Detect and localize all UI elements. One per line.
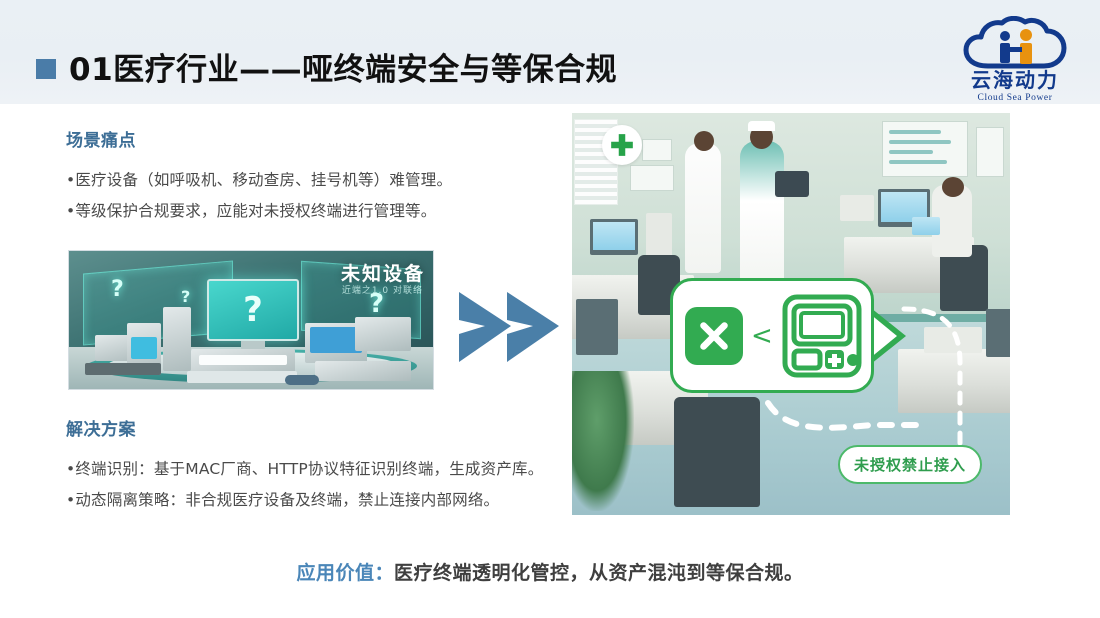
logo-en-name: Cloud Sea Power: [978, 93, 1053, 103]
title-bullet-square-icon: [36, 59, 56, 79]
slide-root: 01医疗行业——哑终端安全与等保合规 云海动力 Cloud Sea Power …: [0, 0, 1100, 618]
page-title: 01医疗行业——哑终端安全与等保合规: [69, 44, 617, 89]
list-item: •终端识别：基于MAC厂商、HTTP协议特征识别终端，生成资产库。: [66, 454, 566, 485]
question-mark-icon: ?: [181, 287, 190, 306]
unknown-devices-sublabel: 近端之1.0 对联络: [342, 283, 423, 296]
x-mark-icon: [695, 317, 733, 355]
pain-points-list: •医疗设备（如呼吸机、移动查房、挂号机等）难管理。 •等级保护合规要求，应能对未…: [66, 165, 566, 227]
question-mark-icon: ?: [111, 277, 124, 302]
medical-device-icon: [781, 294, 863, 378]
slide-title-row: 01医疗行业——哑终端安全与等保合规: [36, 44, 617, 89]
monitor-screen: ?: [207, 279, 299, 341]
solution-block: 解决方案 •终端识别：基于MAC厂商、HTTP协议特征识别终端，生成资产库。 •…: [66, 415, 566, 516]
scanner-device: [355, 317, 411, 351]
list-item: •等级保护合规要求，应能对未授权终端进行管理等。: [66, 196, 566, 227]
logo-cn-name: 云海动力: [971, 70, 1059, 91]
pain-points-heading: 场景痛点: [66, 126, 566, 151]
mouse-device: [285, 375, 319, 385]
solution-list: •终端识别：基于MAC厂商、HTTP协议特征识别终端，生成资产库。 •动态隔离策…: [66, 454, 566, 516]
cloud-with-people-icon: [960, 16, 1070, 72]
monitor-stand: [241, 341, 265, 349]
hospital-office-photo: < 未授权禁止接入: [572, 113, 1010, 515]
unauthorized-device-banner: <: [670, 278, 902, 393]
double-chevron-right-icon: [455, 288, 565, 366]
printer-paper-slot: [199, 355, 287, 365]
unknown-devices-label: 未知设备: [341, 259, 425, 286]
footer-label: 应用价值：: [296, 562, 394, 584]
pain-points-block: 场景痛点 •医疗设备（如呼吸机、移动查房、挂号机等）难管理。 •等级保护合规要求…: [66, 126, 566, 227]
ip-phone-screen: [131, 337, 157, 359]
pc-tower-device: [163, 307, 191, 371]
brand-logo: 云海动力 Cloud Sea Power: [952, 16, 1078, 108]
list-item: •动态隔离策略：非合规医疗设备及终端，禁止连接内部网络。: [66, 485, 566, 516]
less-than-icon: <: [751, 321, 773, 351]
status-badge: 未授权禁止接入: [838, 445, 982, 484]
copier-device: [315, 361, 411, 381]
footer-value-statement: 应用价值：医疗终端透明化管控，从资产混沌到等保合规。: [0, 558, 1100, 585]
unknown-devices-image: ? ? ? ? 未知设备 近端之1.0 对联络: [68, 250, 434, 390]
banner-body: <: [670, 278, 874, 393]
solution-heading: 解决方案: [66, 415, 566, 440]
x-mark-tile: [685, 307, 743, 365]
footer-value: 医疗终端透明化管控，从资产混沌到等保合规。: [394, 562, 804, 584]
keyboard-center: [187, 371, 297, 383]
list-item: •医疗设备（如呼吸机、移动查房、挂号机等）难管理。: [66, 165, 566, 196]
keyboard-left: [85, 363, 161, 375]
question-mark-icon: ?: [243, 290, 263, 330]
